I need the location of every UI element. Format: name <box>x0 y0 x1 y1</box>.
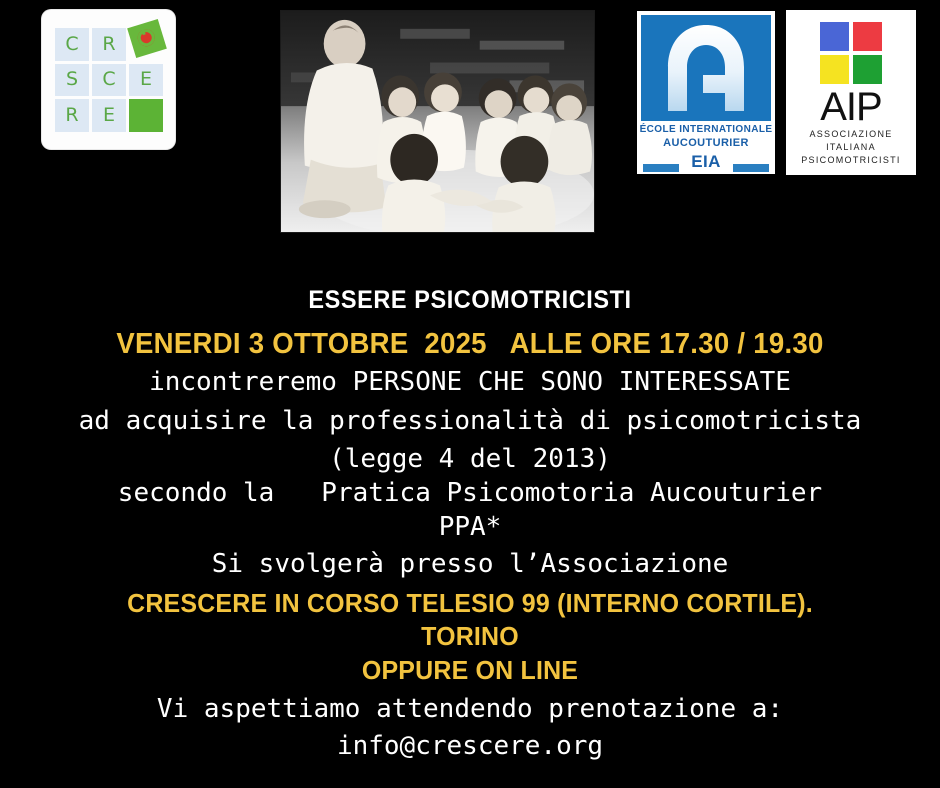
venue-city: TORINO <box>19 621 921 652</box>
seed-square-shape <box>127 19 167 58</box>
eia-logo: ÉCOLE INTERNATIONALE AUCOUTURIER EIA <box>637 11 775 174</box>
crescere-tile: E <box>129 64 163 97</box>
poster-headline: ESSERE PSICOMOTRICISTI <box>28 286 912 315</box>
line-ppa: PPA* <box>0 512 940 542</box>
aip-color-squares <box>820 22 882 84</box>
aip-square-red <box>853 22 882 51</box>
eia-blue-panel <box>641 15 771 121</box>
crescere-tile: C <box>92 64 126 97</box>
crescere-green-square <box>129 99 163 132</box>
aip-subtitle: ASSOCIAZIONE ITALIANA PSICOMOTRICISTI <box>786 128 916 167</box>
line-meet: incontreremo PERSONE CHE SONO INTERESSAT… <box>0 367 940 397</box>
crescere-tile: R <box>92 28 126 61</box>
crescere-tile: S <box>55 64 89 97</box>
line-acquire: ad acquisire la professionalità di psico… <box>0 406 940 436</box>
eia-line-2: AUCOUTURIER <box>637 136 775 151</box>
venue-address: CRESCERE IN CORSO TELESIO 99 (INTERNO CO… <box>19 588 921 619</box>
eia-bar-left-icon <box>643 162 679 174</box>
crescere-tile: R <box>55 99 89 132</box>
line-venue-intro: Si svolgerà presso l’Associazione <box>0 549 940 579</box>
eia-wordmark: ÉCOLE INTERNATIONALE AUCOUTURIER EIA <box>637 123 775 172</box>
eia-bar-right-icon <box>733 162 769 174</box>
poster-canvas: C R S C E R E <box>0 0 940 788</box>
contact-email[interactable]: info@crescere.org <box>0 731 940 761</box>
aip-square-green <box>853 55 882 84</box>
venue-online-option: OPPURE ON LINE <box>19 655 921 686</box>
crescere-tile: C <box>55 28 89 61</box>
group-photo-illustration <box>281 11 594 232</box>
crescere-seed-icon <box>129 28 163 61</box>
crescere-letter-grid: C R S C E R E <box>55 28 163 132</box>
eia-arch-icon <box>663 23 749 115</box>
aip-subtitle-line-1: ASSOCIAZIONE <box>786 128 916 141</box>
eia-line-3: EIA <box>637 152 775 172</box>
line-law: (legge 4 del 2013) <box>0 444 940 474</box>
aip-subtitle-line-3: PSICOMOTRICISTI <box>786 154 916 167</box>
aip-wordmark: AIP <box>786 86 916 128</box>
group-photo <box>280 10 595 233</box>
aip-logo: AIP ASSOCIAZIONE ITALIANA PSICOMOTRICIST… <box>786 10 916 175</box>
crescere-logo: C R S C E R E <box>42 10 175 149</box>
aip-square-blue <box>820 22 849 51</box>
line-method: secondo la Pratica Psicomotoria Aucoutur… <box>0 478 940 508</box>
aip-square-yellow <box>820 55 849 84</box>
eia-line-1: ÉCOLE INTERNATIONALE <box>637 123 775 136</box>
event-dateline: VENERDI 3 OTTOBRE 2025 ALLE ORE 17.30 / … <box>24 328 917 361</box>
aip-subtitle-line-2: ITALIANA <box>786 141 916 154</box>
crescere-tile: E <box>92 99 126 132</box>
eia-acronym: EIA <box>691 152 721 171</box>
line-booking: Vi aspettiamo attendendo prenotazione a: <box>0 694 940 724</box>
